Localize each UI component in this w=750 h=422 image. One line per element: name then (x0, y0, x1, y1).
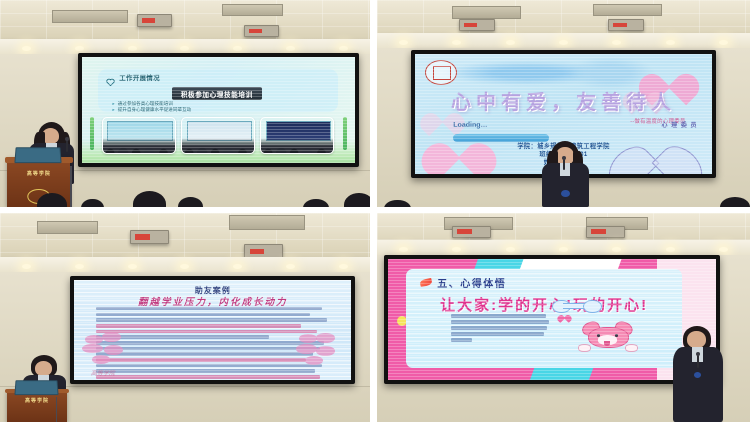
mic-stand (56, 397, 58, 422)
slide-banner: 积极参加心理技能培训 (172, 87, 262, 100)
microphone (66, 140, 68, 152)
led-screen: 助友案例 翻越学业压力，内化成长动力 (70, 276, 355, 385)
audience-head (37, 193, 67, 207)
ceiling-spotlight (666, 247, 675, 252)
slide-header-text: 工作开展情况 (119, 73, 160, 82)
ceiling-spotlight-row (0, 261, 370, 271)
ceiling-spotlight (719, 247, 728, 252)
slide-bullet: 通过参加各类心理技能培训 (112, 101, 173, 107)
slide-paragraph (451, 314, 550, 344)
slide-signature: 高等学院 (91, 368, 115, 377)
projector (244, 25, 279, 37)
air-duct (593, 4, 662, 16)
slide-work-progress: 工作开展情况 积极参加心理技能培训 通过参加各类心理技能培训 提升自身心理健康水… (82, 57, 355, 163)
audience-head (81, 199, 103, 207)
projector (137, 14, 172, 26)
podium-nameplate: 高等学院 (14, 397, 59, 402)
ceiling-spotlight (339, 46, 348, 51)
audience-head (720, 197, 750, 207)
ceiling-spotlight (399, 40, 408, 45)
slide-thumbnail-row (102, 117, 334, 152)
slide-case-study: 助友案例 翻越学业压力，内化成长动力 (74, 280, 351, 381)
ceiling-spotlight (180, 264, 189, 269)
ceiling-spotlight (666, 40, 675, 45)
laptop (14, 147, 62, 163)
ceiling-spotlight (339, 264, 348, 269)
speaker-figure (668, 326, 728, 422)
audience-row (377, 182, 750, 207)
heart-icon (106, 73, 115, 81)
audience-row (0, 182, 370, 207)
microphone (697, 355, 699, 368)
ceiling-spotlight (180, 46, 189, 51)
audience-head (178, 197, 204, 207)
air-duct (37, 221, 98, 233)
slide-thumbnail (181, 117, 255, 154)
ceiling-spotlight (612, 40, 621, 45)
heart-icon (558, 312, 572, 319)
ceiling-spotlight (506, 247, 515, 252)
ceiling-spotlight (286, 264, 295, 269)
audience-head (303, 199, 329, 207)
photo-collage: 工作开展情况 积极参加心理技能培训 通过参加各类心理技能培训 提升自身心理健康水… (0, 0, 750, 422)
speaker-head (35, 361, 53, 376)
ceiling-spotlight (22, 264, 31, 269)
ceiling-spotlight-row (377, 37, 750, 47)
panel-bottom-left: 助友案例 翻越学业压力，内化成长动力 (0, 213, 370, 422)
ceiling-spotlight (128, 46, 137, 51)
corgi-dog-icon (577, 318, 638, 350)
microphone (563, 159, 565, 170)
air-duct (452, 6, 521, 18)
air-duct (222, 4, 283, 16)
cherry-blossom-icon (293, 332, 346, 376)
ceiling-spotlight (559, 247, 568, 252)
ceiling-spotlight (452, 40, 461, 45)
ceiling-spotlight-row (377, 244, 750, 254)
projector (452, 226, 491, 238)
ceiling-spotlight (506, 40, 515, 45)
led-screen: 工作开展情况 积极参加心理技能培训 通过参加各类心理技能培训 提升自身心理健康水… (78, 53, 359, 167)
audience-head (344, 193, 370, 207)
ceiling-spotlight (399, 247, 408, 252)
air-duct (229, 215, 305, 230)
ceiling-spotlight (233, 264, 242, 269)
decor-bar (90, 117, 94, 150)
podium-nameplate: 高等学院 (15, 170, 63, 178)
panel-top-left: 工作开展情况 积极参加心理技能培训 通过参加各类心理技能培训 提升自身心理健康水… (0, 0, 370, 207)
panel-top-right: 心中有爱，友善待人 --做有温度的心理委员 Loading… 心 理 委 员 学… (377, 0, 750, 207)
school-seal-icon (425, 60, 457, 85)
laptop (14, 380, 58, 394)
projector (130, 230, 169, 245)
ceiling-spotlight (452, 247, 461, 252)
slide-title: 心中有爱，友善待人 (415, 86, 713, 115)
bone-icon (555, 302, 599, 308)
decor-dot (397, 316, 407, 326)
slide-thumbnail (102, 117, 176, 154)
audience-head (133, 191, 166, 207)
ceiling-spotlight (286, 46, 295, 51)
ceiling-spotlight (22, 46, 31, 51)
ceiling-spotlight (128, 264, 137, 269)
decor-bar (343, 117, 347, 150)
progress-bar (453, 134, 548, 141)
projector (459, 19, 495, 31)
slide-thumbnail (260, 117, 334, 154)
ceiling-spotlight (719, 40, 728, 45)
panel-bottom-right: 五、心得体悟 让大家:学的开心!玩的开心! (377, 213, 750, 422)
audience-head (384, 200, 410, 207)
ceiling-spotlight (75, 264, 84, 269)
projector (608, 19, 644, 31)
air-duct (52, 10, 128, 22)
loading-label: Loading… (453, 122, 487, 129)
slide-main-text: 让大家:学的开心!玩的开心! (406, 294, 681, 315)
ceiling-spotlight (75, 46, 84, 51)
badge-icon (694, 372, 701, 378)
leaf-icon (420, 278, 433, 287)
projector (586, 226, 625, 238)
slide-bullet: 提升自身心理健康水平促进同辈互动 (112, 107, 192, 113)
ceiling-spotlight (559, 40, 568, 45)
speaker-head (687, 331, 706, 348)
ceiling-spotlight (612, 247, 621, 252)
ceiling-spotlight (233, 46, 242, 51)
slide-section-heading: 五、心得体悟 (437, 275, 506, 290)
ceiling-spotlight-row (0, 43, 370, 53)
